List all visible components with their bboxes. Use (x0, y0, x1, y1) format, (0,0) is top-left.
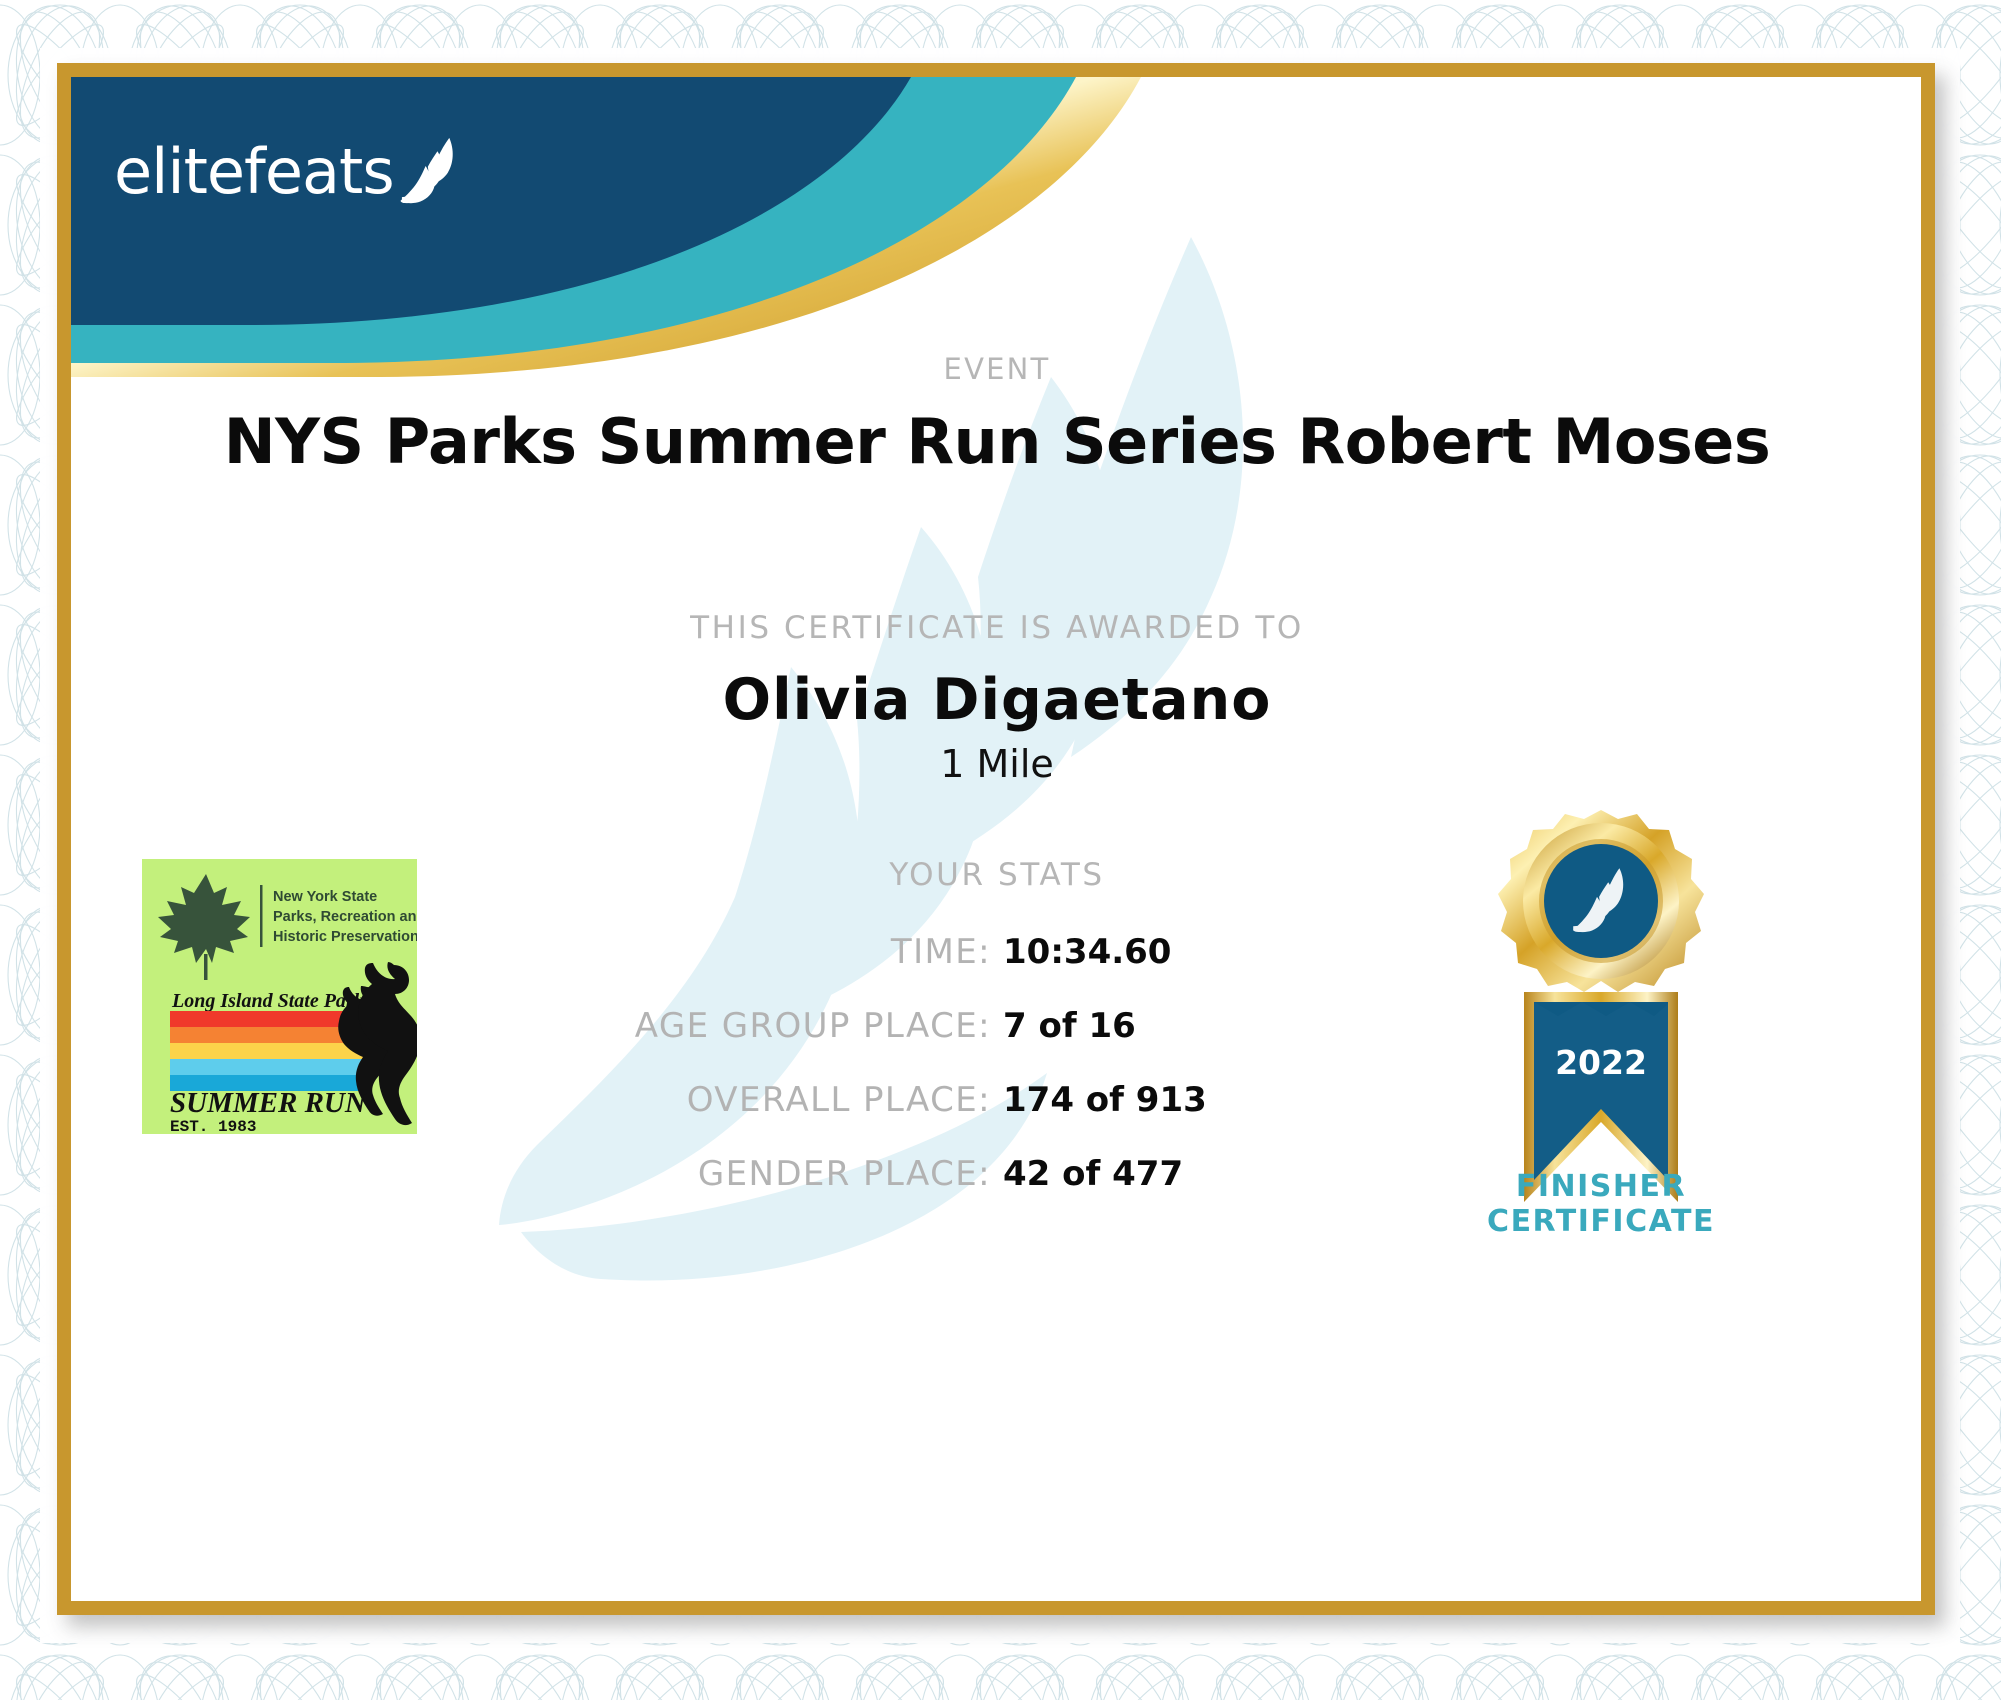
ribbon-fill (1534, 1002, 1668, 1180)
race-distance: 1 Mile (71, 742, 1923, 786)
svg-text:Long Island State Parks: Long Island State Parks (171, 990, 372, 1012)
svg-text:Historic Preservation: Historic Preservation (273, 929, 417, 945)
stat-label: GENDER PLACE: (331, 1154, 991, 1194)
certificate-card: elitefeats EVENT NYS Parks Summer Run Se… (57, 63, 1935, 1615)
svg-text:EST. 1983: EST. 1983 (170, 1118, 256, 1134)
medal-caption-line2: CERTIFICATE (1431, 1205, 1771, 1240)
stat-label: TIME: (331, 932, 991, 972)
medal-caption: FINISHER CERTIFICATE (1431, 1170, 1771, 1239)
svg-text:Parks, Recreation and: Parks, Recreation and (273, 909, 417, 925)
medal-year: 2022 (1555, 1043, 1647, 1082)
awarded-to-label: THIS CERTIFICATE IS AWARDED TO (71, 610, 1923, 646)
sponsor-logo: New York State Parks, Recreation and His… (142, 859, 417, 1134)
page-title: NYS Parks Summer Run Series Robert Moses (71, 405, 1923, 478)
event-label: EVENT (71, 352, 1923, 386)
sponsor-logo-art: New York State Parks, Recreation and His… (142, 859, 417, 1134)
svg-text:New York State: New York State (273, 889, 377, 905)
svg-text:SUMMER RUN: SUMMER RUN (170, 1087, 367, 1119)
stat-label: AGE GROUP PLACE: (331, 1006, 991, 1046)
stat-label: OVERALL PLACE: (331, 1080, 991, 1120)
recipient-name: Olivia Digaetano (71, 667, 1923, 733)
rainbow-stripes (170, 1011, 365, 1091)
medal-caption-line1: FINISHER (1431, 1170, 1771, 1205)
medal-disc (1498, 810, 1704, 992)
